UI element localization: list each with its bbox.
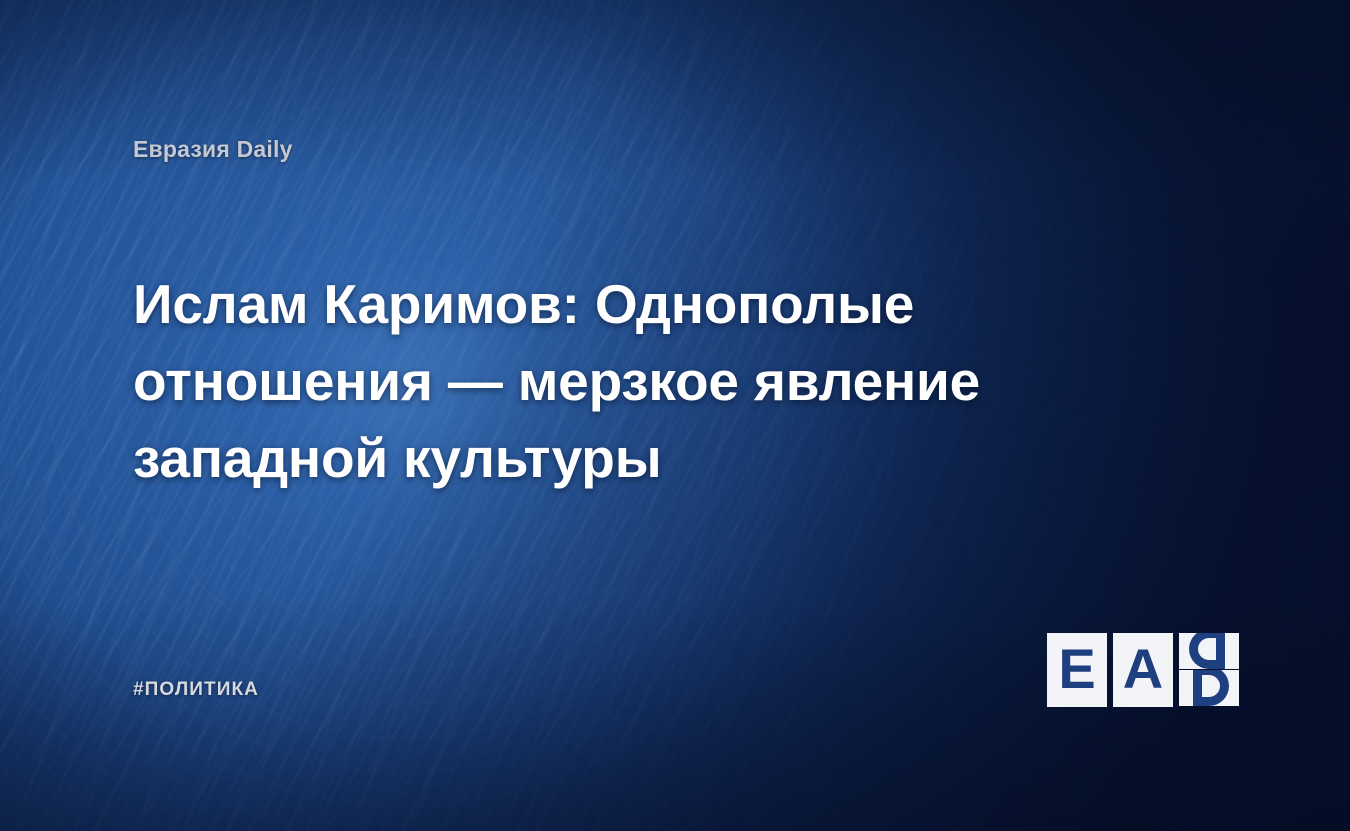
headline-line-1: Ислам Каримов: Однополые xyxy=(133,266,1033,343)
headline-line-3: западной культуры xyxy=(133,420,1033,497)
eadaily-logo[interactable]: E A xyxy=(1047,633,1239,707)
logo-tile-e: E xyxy=(1047,633,1107,707)
page-title: Ислам Каримов: Однополые отношения — мер… xyxy=(133,266,1033,497)
logo-tile-d-split xyxy=(1179,633,1239,707)
logo-tile-d-lower xyxy=(1179,670,1239,706)
brand-name: Евразия Daily xyxy=(133,136,293,163)
category-hashtag[interactable]: #ПОЛИТИКА xyxy=(133,679,259,701)
logo-tile-d-upper xyxy=(1179,633,1239,669)
logo-letter-e: E xyxy=(1058,641,1095,697)
headline-line-2: отношения — мерзкое явление xyxy=(133,343,1033,420)
logo-letter-a: A xyxy=(1123,641,1163,697)
news-card: Евразия Daily Ислам Каримов: Однополые о… xyxy=(0,0,1350,831)
logo-tile-a: A xyxy=(1113,633,1173,707)
card-content: Евразия Daily Ислам Каримов: Однополые о… xyxy=(0,0,1350,831)
